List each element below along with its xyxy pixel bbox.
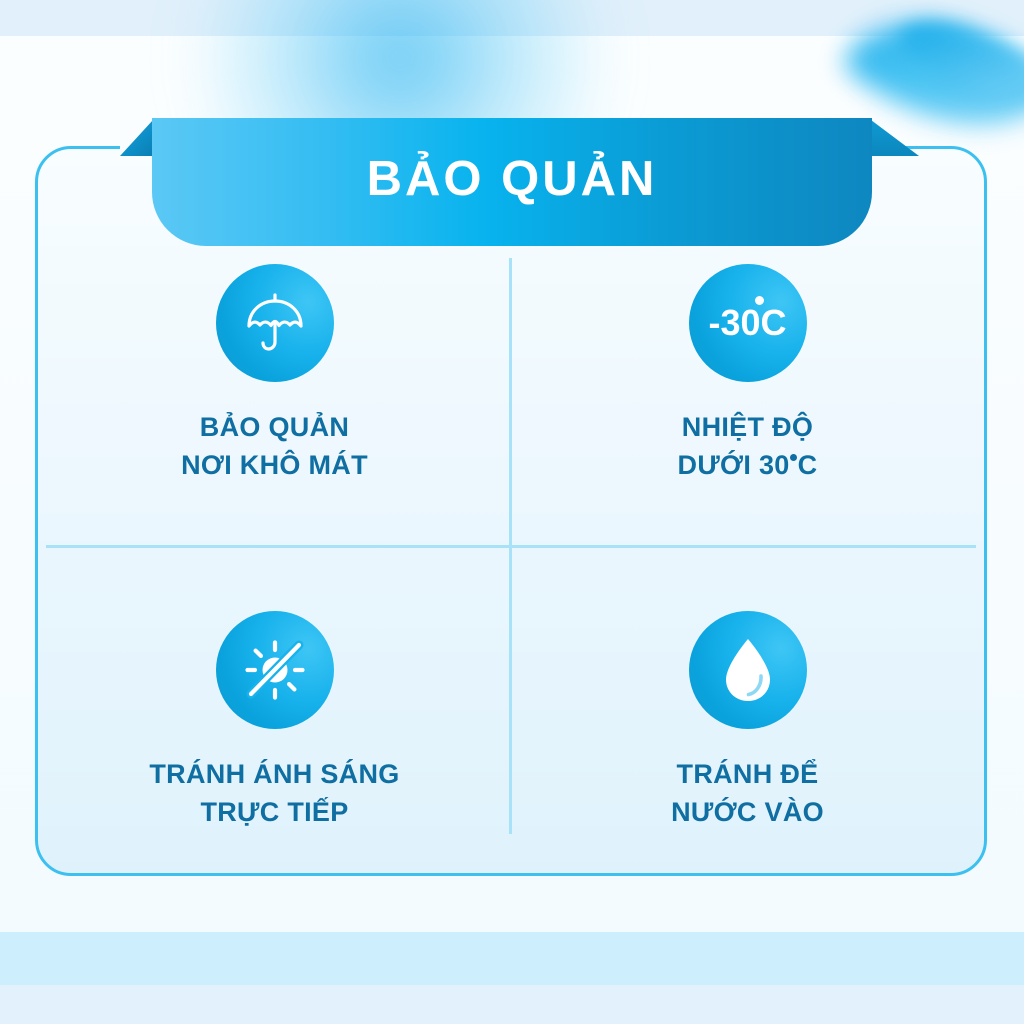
temperature-icon-label: -30C bbox=[708, 305, 786, 341]
caption-line-2: DƯỚI 30C bbox=[678, 446, 818, 484]
instruction-caption: BẢO QUẢN NƠI KHÔ MÁT bbox=[181, 408, 368, 485]
caption-line-2-before: DƯỚI 30 bbox=[678, 450, 790, 480]
caption-line-1: TRÁNH ĐỂ bbox=[677, 759, 819, 789]
caption-line-1: NHIỆT ĐỘ bbox=[682, 412, 813, 442]
instruction-item-no-water: TRÁNH ĐỂ NƯỚC VÀO bbox=[511, 511, 984, 873]
caption-line-1: TRÁNH ÁNH SÁNG bbox=[149, 759, 399, 789]
instruction-caption: TRÁNH ÁNH SÁNG TRỰC TIẾP bbox=[149, 755, 399, 832]
caption-line-2: TRỰC TIẾP bbox=[149, 793, 399, 831]
caption-line-2-after: C bbox=[798, 450, 818, 480]
bottom-color-band-lower bbox=[0, 985, 1024, 1024]
banner-ribbon: BẢO QUẢN bbox=[152, 118, 872, 246]
degree-symbol-icon bbox=[755, 296, 764, 305]
bottom-color-band-upper bbox=[0, 932, 1024, 985]
instruction-caption: TRÁNH ĐỂ NƯỚC VÀO bbox=[671, 755, 824, 832]
umbrella-icon bbox=[216, 264, 334, 382]
temperature-unit: C bbox=[761, 302, 787, 343]
page-title: BẢO QUẢN bbox=[367, 155, 658, 204]
caption-line-1: BẢO QUẢN bbox=[200, 412, 349, 442]
ribbon-fold-left bbox=[120, 120, 153, 156]
caption-line-2: NƠI KHÔ MÁT bbox=[181, 446, 368, 484]
degree-symbol-icon bbox=[790, 454, 797, 461]
water-drop-icon bbox=[689, 611, 807, 729]
caption-line-2: NƯỚC VÀO bbox=[671, 793, 824, 831]
temperature-value: -30 bbox=[708, 302, 760, 343]
instructions-grid: BẢO QUẢN NƠI KHÔ MÁT -30C NHIỆT ĐỘ DƯỚI … bbox=[38, 149, 984, 873]
storage-instructions-infographic: BẢO QUẢN NƠI KHÔ MÁT -30C NHIỆT ĐỘ DƯỚI … bbox=[0, 0, 1024, 1024]
temperature-minus-30-icon: -30C bbox=[689, 264, 807, 382]
instruction-caption: NHIỆT ĐỘ DƯỚI 30C bbox=[678, 408, 818, 485]
instruction-item-no-sunlight: TRÁNH ÁNH SÁNG TRỰC TIẾP bbox=[38, 511, 511, 873]
no-sunlight-icon bbox=[216, 611, 334, 729]
